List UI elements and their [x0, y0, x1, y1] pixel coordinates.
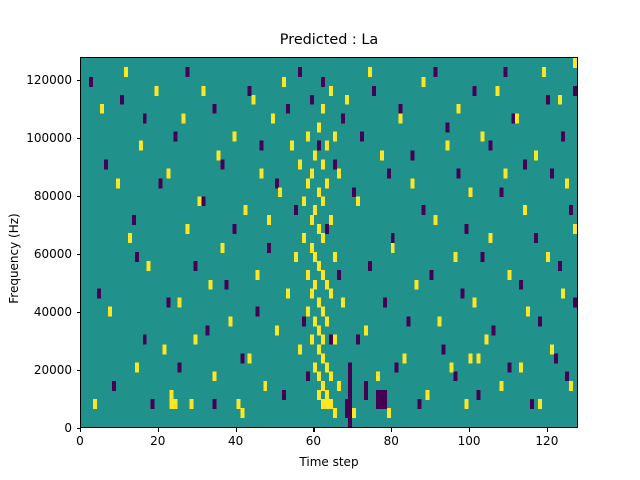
y-tick-mark	[77, 370, 81, 371]
page-title: Predicted : La	[80, 32, 578, 49]
y-tick-label: 120000	[26, 74, 72, 86]
x-tick-label: 0	[76, 435, 84, 447]
x-tick-label: 60	[306, 435, 321, 447]
y-axis-label: Frequency (Hz)	[6, 73, 22, 444]
y-tick-mark	[77, 312, 81, 313]
heatmap-plot-area[interactable]	[80, 57, 578, 428]
x-tick-label: 40	[228, 435, 243, 447]
x-tick-mark	[158, 428, 159, 432]
y-tick-mark	[77, 80, 81, 81]
y-tick-label: 80000	[34, 190, 72, 202]
x-axis-label: Time step	[80, 455, 578, 469]
y-tick-mark	[77, 138, 81, 139]
y-tick-label: 60000	[34, 248, 72, 260]
y-tick-mark	[77, 196, 81, 197]
x-tick-mark	[547, 428, 548, 432]
x-tick-mark	[391, 428, 392, 432]
heatmap-image	[81, 58, 577, 427]
figure-canvas: Predicted : La 0200004000060000800001000…	[0, 0, 640, 480]
y-tick-label: 100000	[26, 132, 72, 144]
x-tick-label: 80	[384, 435, 399, 447]
x-tick-label: 100	[458, 435, 481, 447]
y-tick-mark	[77, 254, 81, 255]
x-tick-mark	[236, 428, 237, 432]
x-tick-label: 120	[535, 435, 558, 447]
x-tick-mark	[469, 428, 470, 432]
x-tick-mark	[313, 428, 314, 432]
x-tick-mark	[80, 428, 81, 432]
y-tick-label: 20000	[34, 364, 72, 376]
y-tick-label: 0	[64, 422, 72, 434]
y-tick-label: 40000	[34, 306, 72, 318]
x-tick-label: 20	[150, 435, 165, 447]
